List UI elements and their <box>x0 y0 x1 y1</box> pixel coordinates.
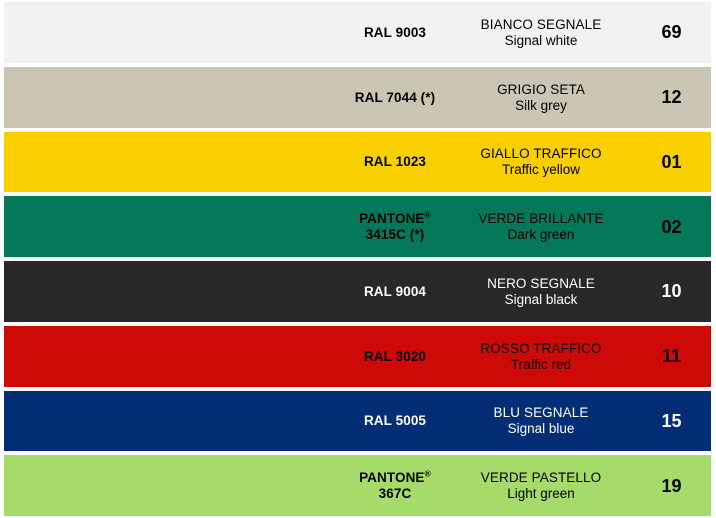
registered-trademark-icon: ® <box>425 469 431 479</box>
color-reference-table: RAL 9003BIANCO SEGNALESignal white69RAL … <box>0 0 716 518</box>
color-number: 11 <box>632 346 711 366</box>
color-name: VERDE BRILLANTEDark green <box>450 211 632 242</box>
color-name: GRIGIO SETASilk grey <box>450 82 632 113</box>
color-code: RAL 9003 <box>340 25 450 40</box>
color-number: 12 <box>632 87 711 107</box>
color-name-english: Dark green <box>508 227 575 242</box>
color-name-italian: VERDE PASTELLO <box>481 470 601 485</box>
color-name-english: Traffic red <box>511 357 571 372</box>
color-number: 15 <box>632 411 711 431</box>
color-row: RAL 9003BIANCO SEGNALESignal white69 <box>4 2 711 63</box>
registered-trademark-icon: ® <box>425 210 431 220</box>
color-code: PANTONE®367C <box>340 470 450 501</box>
color-name-italian: NERO SEGNALE <box>487 276 595 291</box>
color-code-line-2: 367C <box>379 486 412 501</box>
color-name-english: Signal white <box>505 33 578 48</box>
color-number: 69 <box>632 22 711 42</box>
color-name: VERDE PASTELLOLight green <box>450 470 632 501</box>
color-code: RAL 9004 <box>340 284 450 299</box>
color-name: BLU SEGNALESignal blue <box>450 405 632 436</box>
color-code-line-1: RAL 3020 <box>364 349 426 364</box>
color-code: RAL 5005 <box>340 413 450 428</box>
color-name-italian: GRIGIO SETA <box>497 82 585 97</box>
color-code-line-1: RAL 9003 <box>364 25 426 40</box>
color-name: ROSSO TRAFFICOTraffic red <box>450 341 632 372</box>
color-name: BIANCO SEGNALESignal white <box>450 17 632 48</box>
color-row: PANTONE®367CVERDE PASTELLOLight green19 <box>4 455 711 516</box>
color-code-line-2: 3415C (*) <box>366 227 425 242</box>
color-row: RAL 3020ROSSO TRAFFICOTraffic red11 <box>4 326 711 387</box>
color-name-english: Signal blue <box>508 421 575 436</box>
color-row: RAL 1023GIALLO TRAFFICOTraffic yellow01 <box>4 132 711 193</box>
color-code-line-1: RAL 5005 <box>364 413 426 428</box>
color-row: PANTONE®3415C (*)VERDE BRILLANTEDark gre… <box>4 196 711 257</box>
color-name-italian: ROSSO TRAFFICO <box>480 341 601 356</box>
color-name-italian: BIANCO SEGNALE <box>481 17 602 32</box>
color-code-line-1: PANTONE® <box>359 211 431 226</box>
color-number: 01 <box>632 152 711 172</box>
color-number: 19 <box>632 476 711 496</box>
color-code-line-1: RAL 1023 <box>364 154 426 169</box>
color-name-italian: VERDE BRILLANTE <box>478 211 603 226</box>
color-name-english: Light green <box>507 486 575 501</box>
color-code: RAL 7044 (*) <box>340 90 450 105</box>
color-number: 10 <box>632 281 711 301</box>
color-name-italian: BLU SEGNALE <box>494 405 589 420</box>
color-code-line-1: RAL 7044 (*) <box>355 90 435 105</box>
color-code: RAL 3020 <box>340 349 450 364</box>
color-row: RAL 5005BLU SEGNALESignal blue15 <box>4 391 711 452</box>
color-code-line-1: PANTONE® <box>359 470 431 485</box>
color-code: RAL 1023 <box>340 154 450 169</box>
color-name-english: Traffic yellow <box>502 162 580 177</box>
color-row: RAL 7044 (*)GRIGIO SETASilk grey12 <box>4 67 711 128</box>
color-code: PANTONE®3415C (*) <box>340 211 450 242</box>
color-name-english: Signal black <box>505 292 578 307</box>
color-name: GIALLO TRAFFICOTraffic yellow <box>450 146 632 177</box>
color-number: 02 <box>632 217 711 237</box>
color-name: NERO SEGNALESignal black <box>450 276 632 307</box>
color-name-italian: GIALLO TRAFFICO <box>480 146 601 161</box>
color-row: RAL 9004NERO SEGNALESignal black10 <box>4 261 711 322</box>
color-name-english: Silk grey <box>515 98 567 113</box>
color-code-line-1: RAL 9004 <box>364 284 426 299</box>
